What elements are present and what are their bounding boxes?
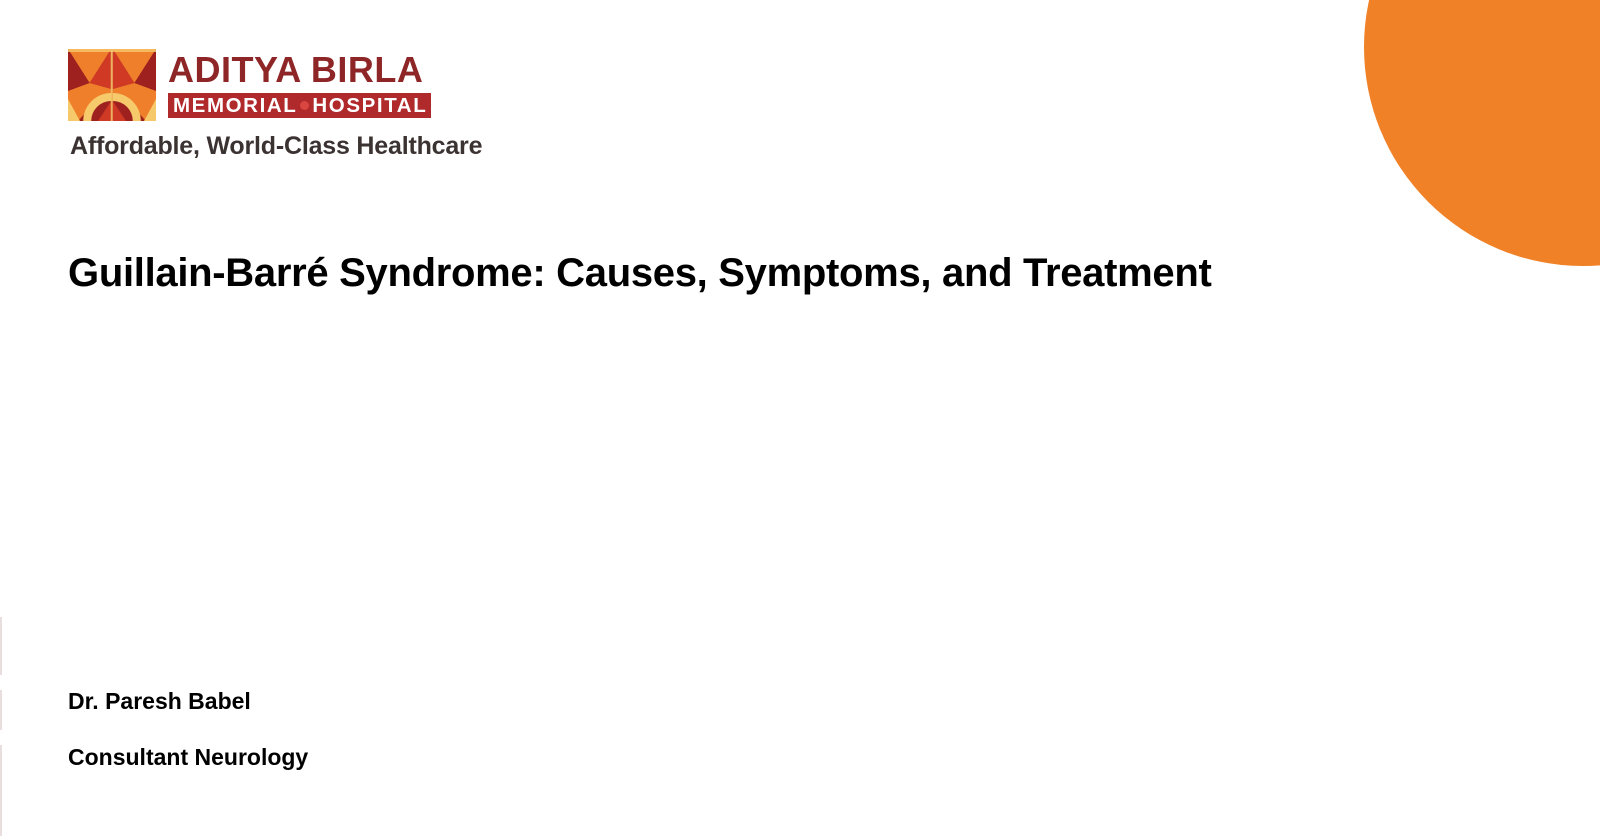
logo-bar-dot-icon [300, 101, 309, 110]
logo-subbrand-memorial: MEMORIAL [173, 94, 297, 117]
decorative-orange-circle [1364, 0, 1600, 266]
left-edge-artifact [0, 617, 2, 675]
logo-subbrand-hospital: HOSPITAL [312, 94, 427, 117]
left-edge-artifact [0, 690, 2, 730]
aditya-birla-kaleidoscope-mark-icon [68, 49, 156, 121]
logo-top-row: ADITYA BIRLA MEMORIALHOSPITAL [68, 49, 488, 121]
hospital-logo: ADITYA BIRLA MEMORIALHOSPITAL Affordable… [68, 49, 488, 161]
presenter-name: Dr. Paresh Babel [68, 686, 768, 716]
slide-title: Guillain-Barré Syndrome: Causes, Symptom… [68, 247, 1368, 299]
logo-tagline: Affordable, World-Class Healthcare [70, 132, 488, 161]
presenter-role: Consultant Neurology [68, 742, 768, 772]
presenter-block: Dr. Paresh Babel Consultant Neurology [68, 686, 768, 772]
title-slide: ADITYA BIRLA MEMORIALHOSPITAL Affordable… [0, 0, 1600, 836]
logo-wordmark: ADITYA BIRLA MEMORIALHOSPITAL [168, 49, 431, 118]
left-edge-artifact [0, 745, 2, 836]
logo-brand-name: ADITYA BIRLA [168, 50, 431, 90]
logo-subbrand-bar: MEMORIALHOSPITAL [168, 93, 431, 118]
